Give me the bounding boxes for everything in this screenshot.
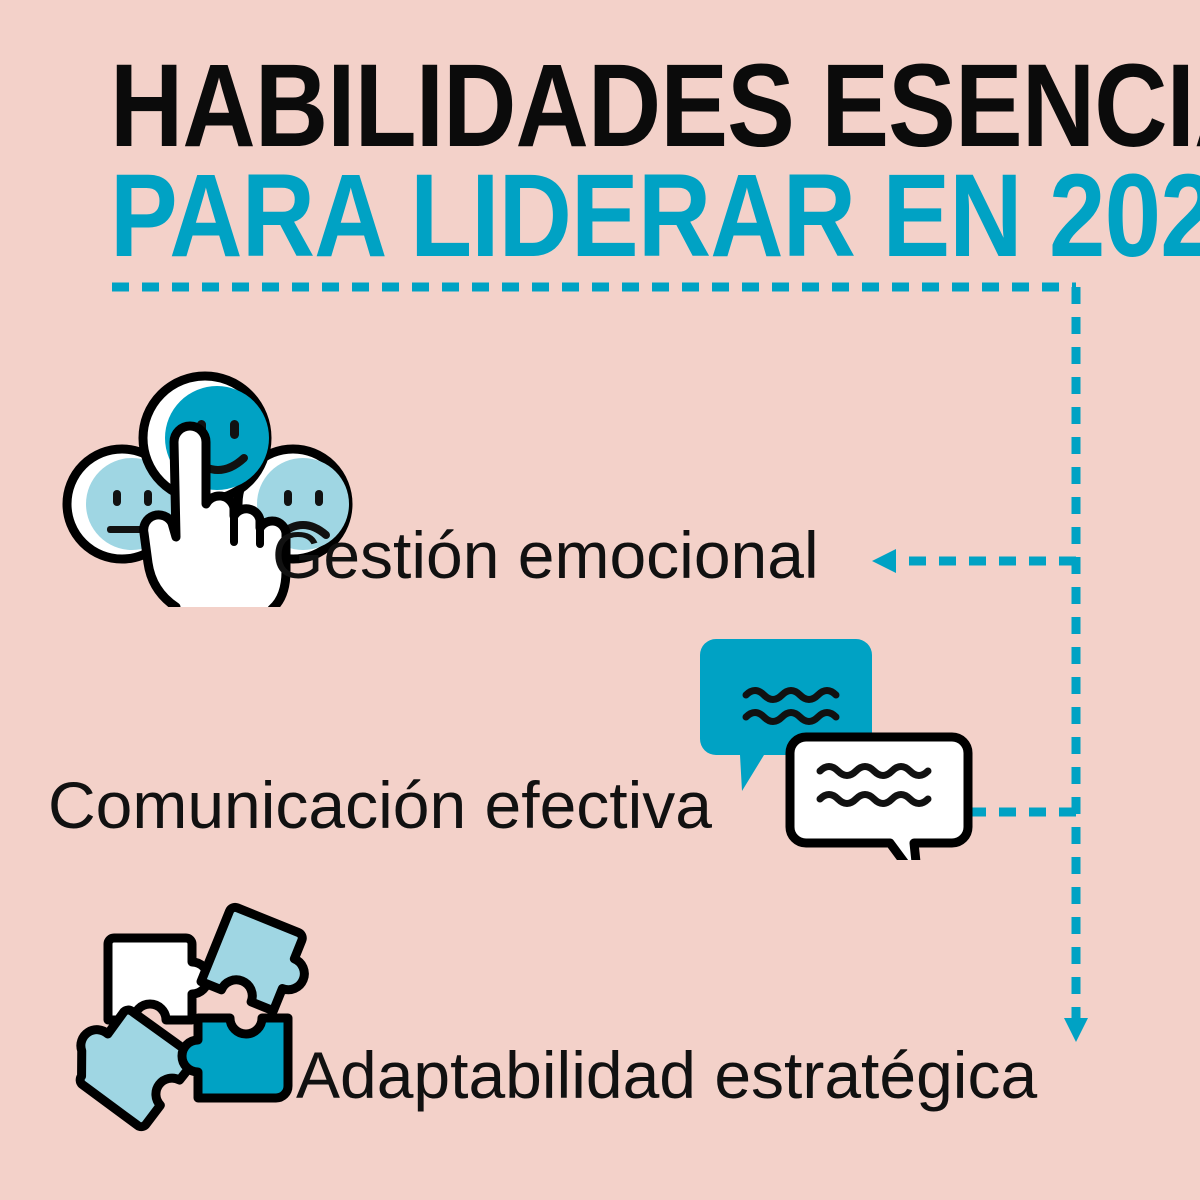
skill-label-adaptability: Adaptabilidad estratégica xyxy=(296,1042,1037,1108)
skill-label-emotional: Gestión emocional xyxy=(272,522,819,588)
puzzle-piece-teal xyxy=(182,1018,288,1098)
poster-title: HABILIDADES ESENCIALES PARA LIDERAR EN 2… xyxy=(110,52,1090,271)
speech-bubbles-icon xyxy=(690,635,980,860)
speech-bubble-white xyxy=(790,737,968,860)
arrow-head-adaptability xyxy=(1064,1018,1088,1042)
title-line-primary: HABILIDADES ESENCIALES xyxy=(110,52,953,162)
infographic-poster: HABILIDADES ESENCIALES PARA LIDERAR EN 2… xyxy=(0,0,1200,1200)
puzzle-pieces-icon xyxy=(52,890,372,1155)
skill-label-communication: Comunicación efectiva xyxy=(48,772,712,838)
arrow-head-emotional xyxy=(872,549,896,573)
puzzle-piece-light-top xyxy=(201,906,319,1017)
title-line-secondary: PARA LIDERAR EN 2025 xyxy=(110,162,953,272)
